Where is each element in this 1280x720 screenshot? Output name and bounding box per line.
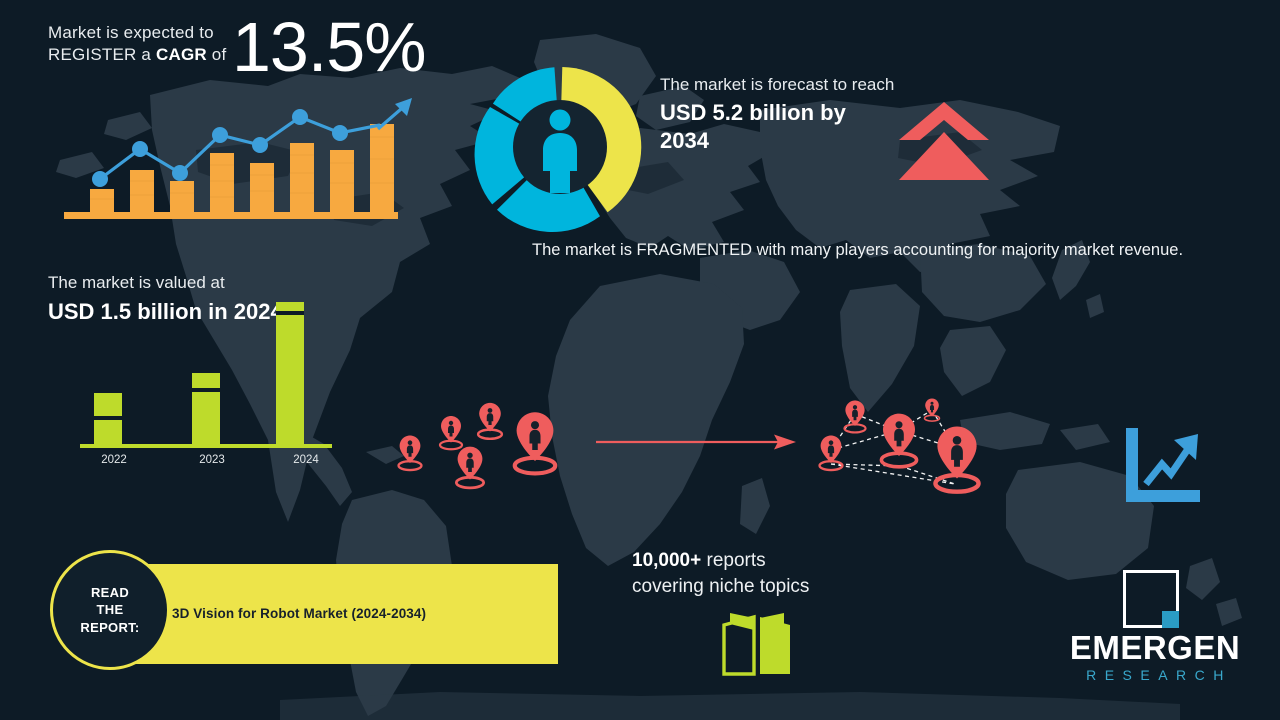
read-the-report-banner[interactable]: 3D Vision for Robot Market (2024-2034) [110, 564, 558, 664]
growth-chart-icon [1122, 426, 1202, 504]
year-label-2022: 2022 [86, 454, 142, 466]
fragmented-market-text: The market is FRAGMENTED with many playe… [532, 238, 1232, 262]
emergen-research-logo: EMERGEN RESEARCH [1055, 570, 1255, 700]
logo-accent-corner [1162, 611, 1179, 628]
cagr-label-line2-pre: REGISTER a [48, 45, 156, 64]
chart-baseline [64, 212, 398, 219]
cagr-value: 13.5% [232, 12, 425, 82]
forecast-block: The market is forecast to reach USD 5.2 … [660, 74, 895, 155]
cagr-keyword: CAGR [156, 45, 207, 64]
logo-wordmark: EMERGEN [1055, 630, 1255, 666]
forecast-sub: The market is forecast to reach [660, 74, 895, 96]
year-label-2023: 2023 [184, 454, 240, 466]
reports-count: 10,000+ [632, 550, 701, 571]
read-the-report-badge[interactable]: READ THE REPORT: [50, 550, 170, 670]
cagr-label-line2-post: of [207, 45, 227, 64]
badge-line3: REPORT: [80, 620, 139, 635]
connected-location-pin-network-icon [800, 386, 1015, 504]
badge-line1: READ [91, 585, 129, 600]
chart-bars [90, 124, 394, 212]
growth-bar-line-chart [60, 85, 420, 225]
reports-line1-rest: reports [701, 550, 765, 571]
reports-count-text: 10,000+ reports covering niche topics [632, 548, 912, 600]
badge-label: READ THE REPORT: [80, 584, 139, 635]
badge-line2: THE [97, 602, 124, 617]
valuation-baseline [80, 444, 332, 448]
donut-market-share-chart [465, 52, 655, 242]
valuation-bar-chart [80, 290, 332, 450]
double-chevron-up-icon [898, 100, 990, 182]
right-arrow-icon [596, 432, 796, 452]
logo-square-mark [1123, 570, 1179, 628]
cagr-label-line1: Market is expected to [48, 23, 214, 42]
infographic-canvas: Market is expected to REGISTER a CAGR of… [0, 0, 1280, 720]
report-title: 3D Vision for Robot Market (2024-2034) [172, 606, 426, 621]
reports-line2: covering niche topics [632, 576, 809, 597]
logo-subtitle: RESEARCH [1055, 667, 1255, 683]
location-pin-cluster-icon [385, 388, 575, 494]
open-book-icon [722, 612, 792, 678]
forecast-value: USD 5.2 billion by 2034 [660, 99, 895, 154]
year-label-2024: 2024 [278, 454, 334, 466]
valuation-bars [94, 302, 304, 445]
